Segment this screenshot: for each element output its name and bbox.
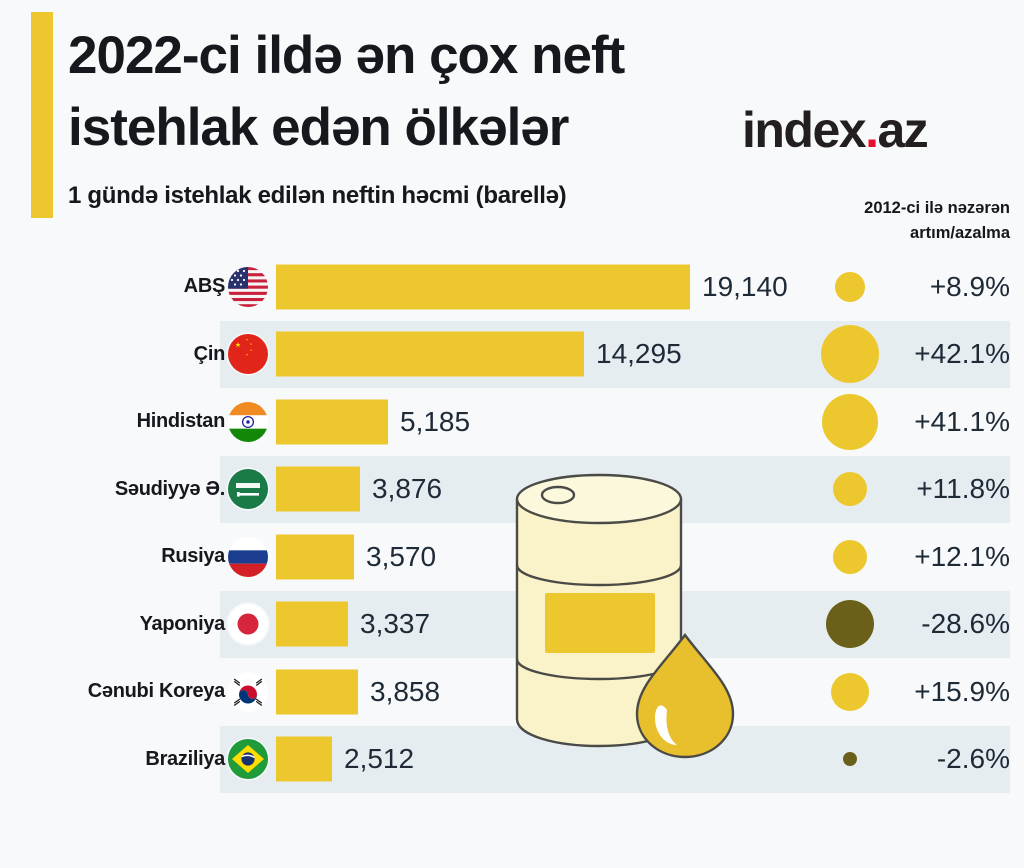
bar-value-label: 3,337 bbox=[360, 608, 430, 640]
change-percent-label: -28.6% bbox=[921, 608, 1010, 640]
consumption-bar bbox=[276, 264, 690, 309]
consumption-bar bbox=[276, 737, 332, 782]
flag-ru-icon bbox=[228, 537, 268, 577]
consumption-bar bbox=[276, 602, 348, 647]
country-label: Yaponiya bbox=[40, 591, 225, 659]
country-label: Çin bbox=[40, 321, 225, 389]
change-percent-label: +8.9% bbox=[930, 271, 1010, 303]
change-percent-label: +42.1% bbox=[914, 338, 1010, 370]
consumption-bar bbox=[276, 534, 354, 579]
logo-name: index bbox=[742, 102, 865, 158]
change-bubble bbox=[831, 673, 869, 711]
consumption-bar bbox=[276, 332, 584, 377]
change-bubble bbox=[833, 472, 867, 506]
bar-value-label: 3,858 bbox=[370, 676, 440, 708]
table-row: Rusiya3,570+12.1% bbox=[0, 523, 1024, 591]
change-bubble bbox=[821, 325, 879, 383]
table-row: Braziliya2,512-2.6% bbox=[0, 726, 1024, 794]
change-bubble bbox=[843, 752, 857, 766]
flag-br-icon bbox=[228, 739, 268, 779]
country-label: Səudiyyə Ə. bbox=[40, 456, 225, 524]
table-row: ABŞ19,140+8.9% bbox=[0, 253, 1024, 321]
flag-sa-icon bbox=[228, 469, 268, 509]
page-title-line-2: istehlak edən ölkələr bbox=[68, 92, 788, 164]
logo-tld: az bbox=[878, 102, 928, 158]
change-column-header-line-2: artım/azalma bbox=[780, 221, 1010, 246]
table-row: Hindistan5,185+41.1% bbox=[0, 388, 1024, 456]
bar-value-label: 19,140 bbox=[702, 271, 788, 303]
table-row: Səudiyyə Ə.3,876+11.8% bbox=[0, 456, 1024, 524]
change-percent-label: +11.8% bbox=[916, 473, 1010, 505]
flag-cn-icon bbox=[228, 334, 268, 374]
flag-kr-icon bbox=[228, 672, 268, 712]
bar-value-label: 3,876 bbox=[372, 473, 442, 505]
page-subtitle: 1 gündə istehlak edilən neftin həcmi (ba… bbox=[68, 182, 566, 210]
country-label: Rusiya bbox=[40, 523, 225, 591]
change-column-header: 2012-ci ilə nəzərən artım/azalma bbox=[780, 196, 1010, 246]
yellow-accent-bar bbox=[31, 12, 53, 218]
index-az-logo[interactable]: index.az bbox=[742, 101, 927, 159]
consumption-bar bbox=[276, 467, 360, 512]
change-bubble bbox=[826, 600, 874, 648]
page-title: 2022-ci ildə ən çox neft istehlak edən ö… bbox=[68, 20, 788, 164]
flag-in-icon bbox=[228, 402, 268, 442]
flag-jp-icon bbox=[228, 604, 268, 644]
bar-value-label: 3,570 bbox=[366, 541, 436, 573]
change-percent-label: +15.9% bbox=[914, 676, 1010, 708]
logo-dot: . bbox=[865, 102, 877, 158]
change-percent-label: +12.1% bbox=[914, 541, 1010, 573]
change-bubble bbox=[833, 540, 867, 574]
flag-us-icon bbox=[228, 267, 268, 307]
change-column-header-line-1: 2012-ci ilə nəzərən bbox=[780, 196, 1010, 221]
row-band bbox=[220, 726, 1010, 794]
chart-rows: ABŞ19,140+8.9%Çin14,295+42.1%Hindistan5,… bbox=[0, 253, 1024, 793]
country-label: Cənubi Koreya bbox=[40, 658, 225, 726]
table-row: Cənubi Koreya3,858+15.9% bbox=[0, 658, 1024, 726]
table-row: Yaponiya3,337-28.6% bbox=[0, 591, 1024, 659]
change-percent-label: +41.1% bbox=[914, 406, 1010, 438]
bar-value-label: 14,295 bbox=[596, 338, 682, 370]
country-label: Hindistan bbox=[40, 388, 225, 456]
country-label: Braziliya bbox=[40, 726, 225, 794]
country-label: ABŞ bbox=[40, 253, 225, 321]
page-title-line-1: 2022-ci ildə ən çox neft bbox=[68, 20, 788, 92]
consumption-bar bbox=[276, 669, 358, 714]
change-percent-label: -2.6% bbox=[937, 743, 1010, 775]
change-bubble bbox=[822, 394, 878, 450]
infographic-header: 2022-ci ildə ən çox neft istehlak edən ö… bbox=[0, 0, 1024, 250]
bar-value-label: 5,185 bbox=[400, 406, 470, 438]
consumption-bar bbox=[276, 399, 388, 444]
table-row: Çin14,295+42.1% bbox=[0, 321, 1024, 389]
bar-value-label: 2,512 bbox=[344, 743, 414, 775]
change-bubble bbox=[835, 272, 865, 302]
